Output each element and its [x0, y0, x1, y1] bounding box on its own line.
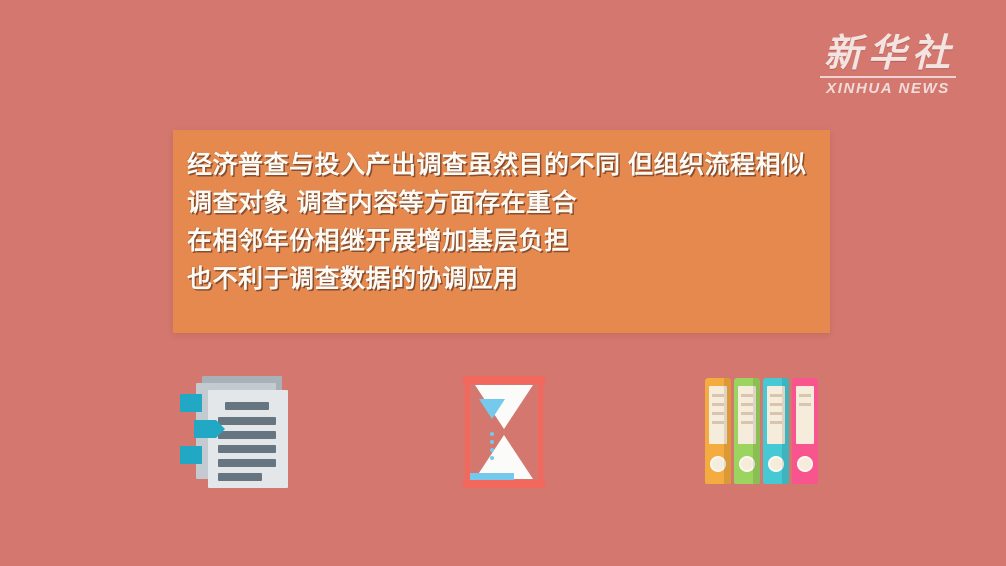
binder-orange [705, 378, 731, 484]
binder-knob [797, 456, 813, 472]
caption-line-3: 在相邻年份相继开展增加基层负担 [187, 222, 820, 260]
document-text-line [218, 445, 276, 453]
document-text-line [218, 417, 276, 425]
hourglass-sand-drop [490, 448, 494, 452]
caption-line-1: 经济普查与投入产出调查虽然目的不同 但组织流程相似 [187, 146, 820, 184]
hourglass-top-cap [463, 376, 545, 384]
logo-chinese-text: 新华社 [818, 33, 958, 75]
bookmark-tab-icon [180, 446, 202, 464]
binder-shadow [753, 378, 760, 484]
hourglass-bottom-cap [463, 480, 545, 488]
illustration-icon-row [0, 368, 1006, 498]
binders-icon [705, 378, 820, 486]
hourglass-sand-drop [490, 456, 494, 460]
hourglass-sand-drop [490, 432, 494, 436]
document-text-line [218, 431, 276, 439]
binder-pink [792, 378, 818, 484]
hourglass-icon [463, 376, 545, 488]
hourglass-right-post [538, 384, 543, 480]
hourglass-upper-sand [479, 399, 505, 419]
caption-line-2: 调查对象 调查内容等方面存在重合 [187, 184, 820, 222]
logo-divider [820, 76, 956, 78]
caption-panel: 经济普查与投入产出调查虽然目的不同 但组织流程相似 调查对象 调查内容等方面存在… [173, 130, 830, 333]
documents-icon [180, 376, 300, 486]
binder-green [734, 378, 760, 484]
document-sheet-front [208, 390, 288, 488]
document-text-line [218, 473, 262, 481]
document-text-line [218, 459, 276, 467]
video-frame: 新华社 XINHUA NEWS 经济普查与投入产出调查虽然目的不同 但组织流程相… [0, 0, 1006, 566]
hourglass-sand-drop [490, 440, 494, 444]
logo-english-text: XINHUA NEWS [818, 80, 958, 97]
binder-label [796, 386, 814, 444]
xinhua-news-logo: 新华社 XINHUA NEWS [818, 33, 958, 95]
caption-text-block: 经济普查与投入产出调查虽然目的不同 但组织流程相似 调查对象 调查内容等方面存在… [187, 146, 820, 298]
document-text-line [225, 402, 269, 410]
bookmark-tab-icon [194, 420, 216, 438]
binder-shadow [782, 378, 789, 484]
bookmark-tab-icon [180, 394, 202, 412]
caption-line-4: 也不利于调查数据的协调应用 [187, 260, 820, 298]
binder-shadow [724, 378, 731, 484]
binder-teal [763, 378, 789, 484]
hourglass-left-post [465, 384, 470, 480]
